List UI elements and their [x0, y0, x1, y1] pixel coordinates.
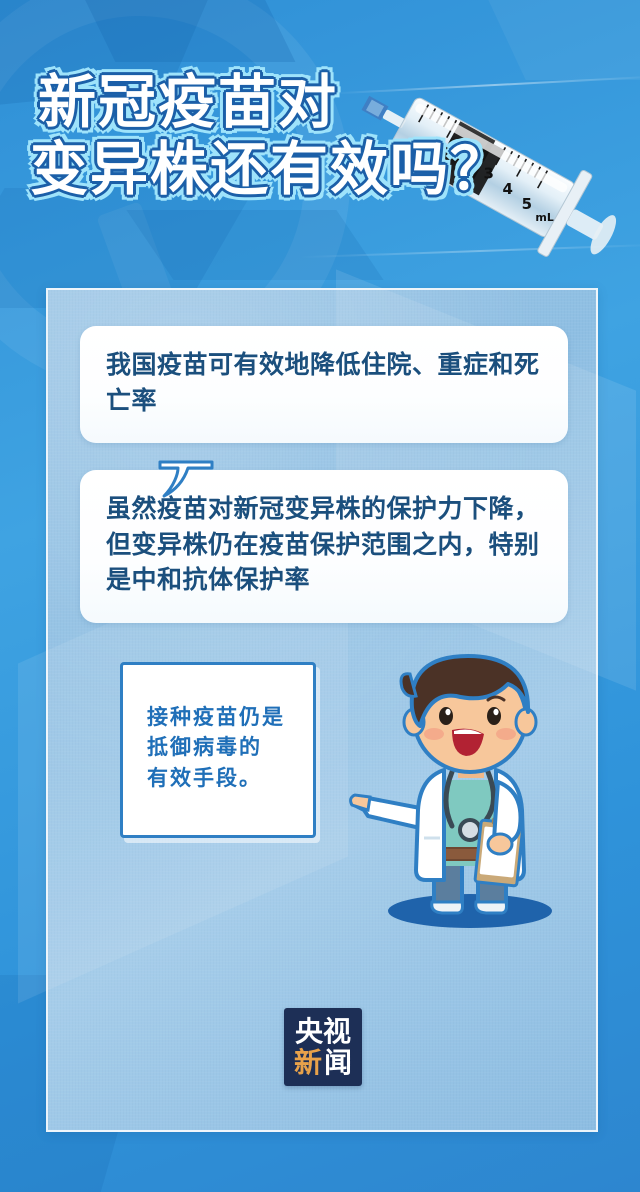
- logo-line-2: 新 闻: [294, 1049, 352, 1077]
- speech-bubble-tail-icon: [158, 460, 214, 500]
- doctor-coat-left: [416, 770, 444, 880]
- info-card: 我国疫苗可有效地降低住院、重症和死亡率: [80, 326, 568, 443]
- svg-text:mL: mL: [535, 211, 553, 224]
- poster-root: 3 4 5 mL 新冠疫苗对 变异株还有效吗？ 我国疫苗可有效地降低住院、重症和…: [0, 0, 640, 1192]
- doctor-hand-right: [488, 834, 512, 854]
- character-shadow: [388, 894, 552, 928]
- cctv-news-logo: 央视 新 闻: [284, 1008, 362, 1086]
- doctor-eye-right: [487, 707, 501, 725]
- info-card: 虽然疫苗对新冠变异株的保护力下降，但变异株仍在疫苗保护范围之内，特别是中和抗体保…: [80, 470, 568, 623]
- logo-char-yang: 央视: [295, 1018, 351, 1046]
- info-card-text: 我国疫苗可有效地降低住院、重症和死亡率: [106, 348, 542, 419]
- speech-bubble-text: 接种疫苗仍是抵御病毒的有效手段。: [123, 665, 313, 794]
- info-card-text: 虽然疫苗对新冠变异株的保护力下降，但变异株仍在疫苗保护范围之内，特别是中和抗体保…: [106, 492, 542, 599]
- speech-bubble: 接种疫苗仍是抵御病毒的有效手段。: [120, 662, 316, 838]
- doctor-pointing-arm: [351, 795, 420, 828]
- poster-headline: 新冠疫苗对 变异株还有效吗？: [0, 72, 600, 205]
- logo-char-wen: 闻: [324, 1049, 352, 1077]
- content-panel: 我国疫苗可有效地降低住院、重症和死亡率 虽然疫苗对新冠变异株的保护力下降，但变异…: [46, 288, 598, 1132]
- doctor-illustration: [348, 630, 584, 930]
- headline-line-2: 变异株还有效吗？: [0, 139, 600, 202]
- logo-line-1: 央视: [295, 1018, 351, 1046]
- headline-line-1: 新冠疫苗对: [0, 72, 600, 135]
- logo-char-xin: 新: [294, 1049, 322, 1077]
- doctor-eye-left: [439, 707, 453, 725]
